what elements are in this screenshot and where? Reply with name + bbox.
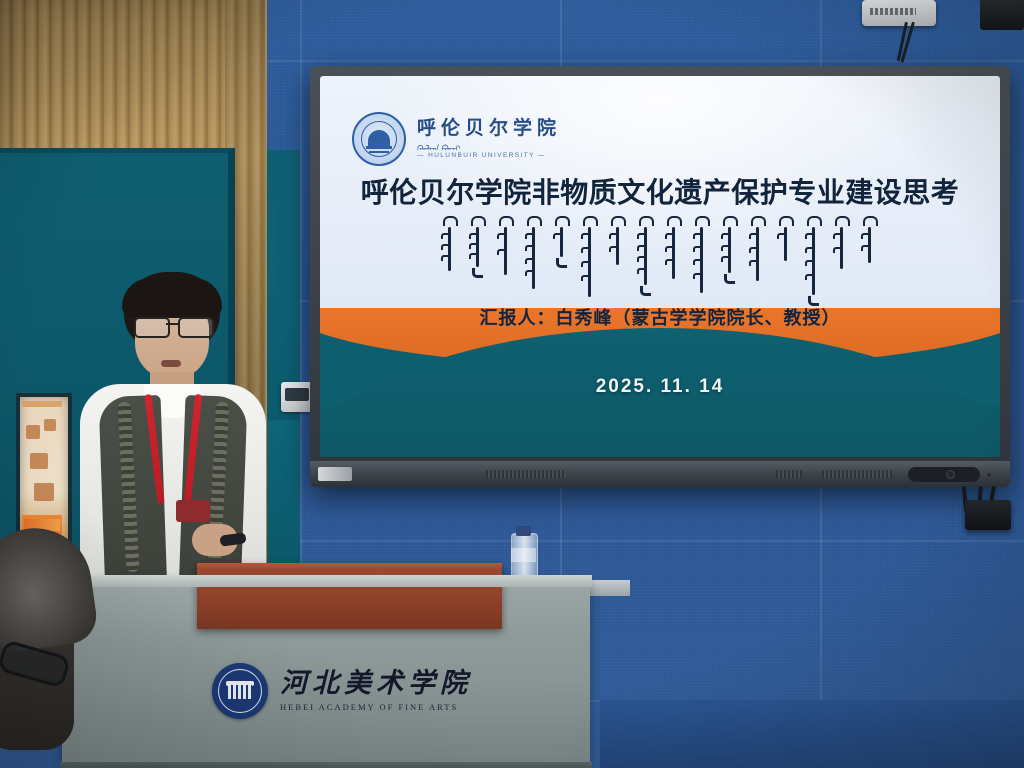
- panel-brand-tag: [318, 467, 352, 481]
- mongolian-word-tail: [556, 258, 567, 268]
- mongolian-word: [555, 216, 570, 268]
- mongolian-word-head: [835, 216, 850, 226]
- mongolian-word-body: [500, 227, 512, 275]
- presenter-glasses-icon: [134, 317, 212, 334]
- slide-title: 呼伦贝尔学院非物质文化遗产保护专业建设思考: [320, 171, 1000, 211]
- mongolian-word: [639, 216, 654, 296]
- university-name-mongolian: ᠬᠥᠯᠦᠨ ᠪᠦᠢᠷ: [417, 139, 561, 150]
- lectern-base: [60, 762, 592, 768]
- mongolian-word-body: [472, 227, 484, 267]
- mongolian-word: [443, 216, 458, 271]
- speaker-grille: [822, 470, 892, 478]
- indicator-led: [986, 472, 992, 478]
- mongolian-word-head: [499, 216, 514, 226]
- mongolian-word: [471, 216, 486, 278]
- university-logo: 呼伦贝尔学院 ᠬᠥᠯᠦᠨ ᠪᠦᠢᠷ — HULUNBUIR UNIVERSITY…: [352, 112, 561, 166]
- mongolian-word-head: [751, 216, 766, 226]
- poster-fragment: [30, 453, 48, 469]
- university-name-en: — HULUNBUIR UNIVERSITY —: [417, 152, 561, 159]
- mongolian-word-body: [612, 227, 624, 265]
- mongolian-word: [611, 216, 626, 265]
- mongolian-word-head: [471, 216, 486, 226]
- mongolian-word-body: [640, 227, 652, 285]
- presentation-slide: 呼伦贝尔学院 ᠬᠥᠯᠦᠨ ᠪᠦᠢᠷ — HULUNBUIR UNIVERSITY…: [320, 76, 1000, 457]
- slide-date: 2025. 11. 14: [320, 376, 1000, 398]
- mongolian-word-body: [528, 227, 540, 289]
- mongolian-word-body: [780, 227, 792, 261]
- mongolian-word: [667, 216, 682, 279]
- cable-connection-box: [965, 500, 1011, 530]
- bottle-label: [511, 548, 536, 562]
- floor-strip: [600, 700, 1024, 768]
- institution-name-cn: 河北美术学院: [280, 670, 472, 697]
- poster-fragment: [44, 419, 56, 431]
- poster-fragment: [26, 425, 40, 439]
- mongolian-word-tail: [640, 286, 651, 296]
- mongolian-word-head: [583, 216, 598, 226]
- university-name-cn: 呼伦贝尔学院: [417, 119, 561, 139]
- mongolian-word-body: [556, 227, 568, 257]
- ir-sensor-strip: [776, 470, 802, 478]
- mongolian-word-body: [724, 227, 736, 273]
- foreground-attendee: [0, 528, 110, 768]
- mongolian-word: [779, 216, 794, 261]
- lectern-institution-logo: 河北美术学院 HEBEI ACADEMY OF FINE ARTS: [212, 663, 472, 719]
- mongolian-word-body: [584, 227, 596, 297]
- mongolian-word-head: [639, 216, 654, 226]
- mongolian-word-head: [863, 216, 878, 226]
- wireless-access-point: [862, 0, 936, 26]
- mongolian-word-head: [443, 216, 458, 226]
- ceiling-panel: [980, 0, 1024, 30]
- mongolian-word-tail: [472, 268, 483, 278]
- name-badge: [176, 500, 210, 522]
- mongolian-word: [499, 216, 514, 275]
- presenter-fringe: [122, 278, 222, 318]
- mongolian-subtitle-row: [320, 216, 1000, 306]
- mongolian-word-head: [807, 216, 822, 226]
- poster-band: [22, 401, 62, 407]
- mongolian-word-body: [808, 227, 820, 295]
- presenter-line: 汇报人：白秀峰（蒙古学学院院长、教授）: [320, 304, 1000, 330]
- panel-display: [285, 388, 309, 401]
- panel-bottom-bezel: [310, 461, 1010, 487]
- mongolian-word-body: [836, 227, 848, 269]
- mongolian-word: [751, 216, 766, 281]
- lectern-wood-top: [197, 563, 502, 629]
- mongolian-word-head: [779, 216, 794, 226]
- attendee-hair: [0, 521, 100, 655]
- presenter-mouth: [161, 360, 181, 367]
- university-seal-icon: [352, 112, 406, 166]
- interactive-flat-panel[interactable]: 呼伦贝尔学院 ᠬᠥᠯᠦᠨ ᠪᠦᠢᠷ — HULUNBUIR UNIVERSITY…: [310, 66, 1010, 487]
- panel-screen[interactable]: 呼伦贝尔学院 ᠬᠥᠯᠦᠨ ᠪᠦᠢᠷ — HULUNBUIR UNIVERSITY…: [320, 76, 1000, 457]
- mongolian-word: [723, 216, 738, 284]
- mongolian-word: [527, 216, 542, 289]
- panel-control-strip[interactable]: [908, 467, 980, 482]
- mongolian-word-head: [723, 216, 738, 226]
- mongolian-word-body: [696, 227, 708, 293]
- bottle-cap: [516, 526, 531, 536]
- power-button[interactable]: [946, 470, 955, 479]
- mongolian-word-head: [611, 216, 626, 226]
- mongolian-word-tail: [724, 274, 735, 284]
- mongolian-word-head: [555, 216, 570, 226]
- lectern-rim: [60, 575, 592, 587]
- institution-name-en: HEBEI ACADEMY OF FINE ARTS: [280, 702, 472, 712]
- mongolian-word: [863, 216, 878, 263]
- speaker-grille: [486, 470, 566, 478]
- mongolian-word: [807, 216, 822, 306]
- mongolian-word-body: [752, 227, 764, 281]
- wall-control-panel[interactable]: [281, 382, 313, 412]
- presentation-scene: 呼伦贝尔学院 ᠬᠥᠯᠦᠨ ᠪᠦᠢᠷ — HULUNBUIR UNIVERSITY…: [0, 0, 1024, 768]
- mongolian-word-body: [444, 227, 456, 271]
- lectern: 河北美术学院 HEBEI ACADEMY OF FINE ARTS: [62, 585, 590, 768]
- device-label: [870, 8, 916, 15]
- mongolian-word: [695, 216, 710, 293]
- mongolian-word-head: [667, 216, 682, 226]
- mongolian-word-body: [864, 227, 876, 263]
- mongolian-word-head: [527, 216, 542, 226]
- mongolian-word: [583, 216, 598, 297]
- mongolian-word-body: [668, 227, 680, 279]
- mongolian-word: [835, 216, 850, 269]
- poster-fragment: [34, 483, 54, 501]
- hebei-seal-icon: [212, 663, 268, 719]
- mongolian-word-head: [695, 216, 710, 226]
